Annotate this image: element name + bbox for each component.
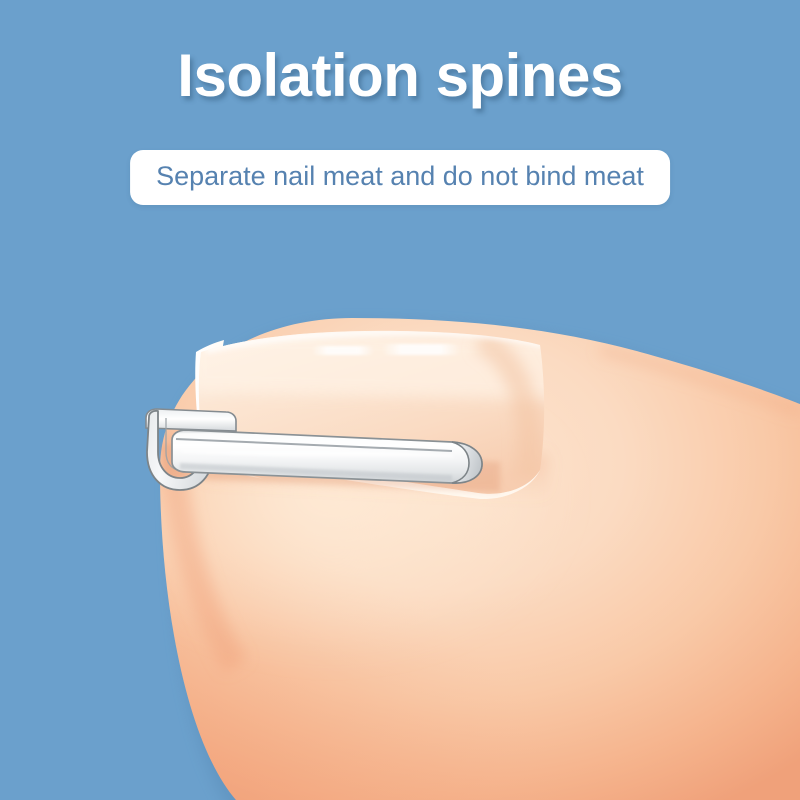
fingertip-illustration (0, 0, 800, 800)
poster-root: Isolation spines Separate nail meat and … (0, 0, 800, 800)
subtitle-pill: Separate nail meat and do not bind meat (130, 150, 670, 205)
nail-highlight-streak-2 (382, 344, 460, 355)
page-title: Isolation spines (0, 44, 800, 107)
subtitle-text: Separate nail meat and do not bind meat (156, 161, 644, 192)
spine-tool-back-flange (146, 409, 236, 431)
nail-highlight-streak-1 (312, 346, 374, 355)
